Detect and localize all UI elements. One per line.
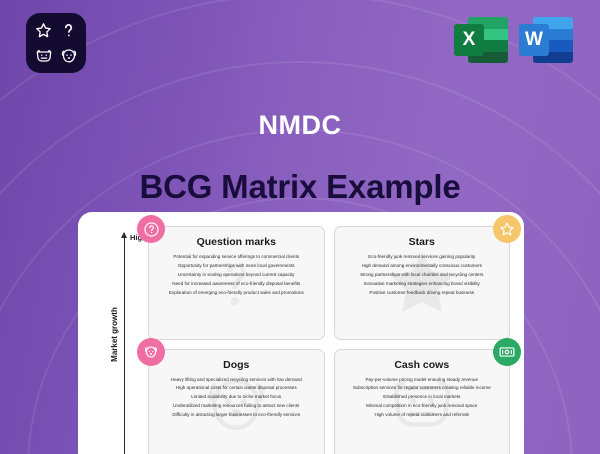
question-mark-icon — [57, 19, 80, 42]
axis-line — [124, 233, 125, 454]
list-item: Underutilized marketing resources failin… — [156, 402, 317, 411]
list-item: Eco-friendly junk removal services gaini… — [342, 253, 503, 262]
list-item: Limited scalability due to niche market … — [156, 393, 317, 402]
list-item: Subscription services for regular custom… — [342, 384, 503, 393]
list-item: Potential for expanding service offering… — [156, 253, 317, 262]
quadrant-question-marks[interactable]: Question marks Potential for expanding s… — [148, 226, 325, 340]
excel-icon[interactable]: X — [454, 13, 508, 67]
matrix-grid: Question marks Potential for expanding s… — [148, 226, 510, 454]
list-item: Pay-per-volume pricing model ensuring st… — [342, 376, 503, 385]
bcg-matrix-logo — [26, 13, 86, 73]
money-icon — [493, 338, 521, 366]
list-item: Uncertainty in scaling operations beyond… — [156, 271, 317, 280]
quadrant-items: Heavy lifting and specialized recycling … — [156, 376, 317, 421]
quadrant-items: Pay-per-volume pricing model ensuring st… — [342, 376, 503, 421]
quadrant-items: Eco-friendly junk removal services gaini… — [342, 253, 503, 298]
list-item: Need for increased awareness of eco-frie… — [156, 280, 317, 289]
cow-icon — [32, 44, 55, 67]
list-item: Positive customer feedback driving repea… — [342, 289, 503, 298]
list-item: Established presence in local markets — [342, 393, 503, 402]
question-mark-icon — [137, 215, 165, 243]
quadrant-title: Stars — [342, 236, 503, 248]
list-item: Innovative marketing strategies enhancin… — [342, 280, 503, 289]
quadrant-dogs[interactable]: Dogs Heavy lifting and specialized recyc… — [148, 349, 325, 454]
axis-title: Market growth — [110, 307, 119, 362]
dog-icon — [137, 338, 165, 366]
list-item: High volume of repeat customers and refe… — [342, 411, 503, 420]
list-item: High demand among environmentally consci… — [342, 262, 503, 271]
list-item: Strong partnerships with local charities… — [342, 271, 503, 280]
star-icon — [493, 215, 521, 243]
quadrant-title: Dogs — [156, 359, 317, 371]
dog-icon — [57, 44, 80, 67]
list-item: Heavy lifting and specialized recycling … — [156, 376, 317, 385]
quadrant-stars[interactable]: Stars Eco-friendly junk removal services… — [334, 226, 511, 340]
excel-letter: X — [454, 24, 484, 56]
matrix-card: High Market growth — [78, 212, 524, 454]
quadrant-items: Potential for expanding service offering… — [156, 253, 317, 298]
slide-canvas: X W NMDC BCG Matrix Example High Market … — [0, 0, 600, 454]
word-letter: W — [519, 24, 549, 56]
list-item: Exploration of emerging eco-friendly pro… — [156, 289, 317, 298]
quadrant-cash-cows[interactable]: Cash cows Pay-per-volume pricing model e… — [334, 349, 511, 454]
list-item: Difficulty in attracting larger business… — [156, 411, 317, 420]
quadrant-title: Cash cows — [342, 359, 503, 371]
list-item: Opportunity for partnerships with more l… — [156, 262, 317, 271]
star-icon — [32, 19, 55, 42]
list-item: High operational costs for certain waste… — [156, 384, 317, 393]
brand-name: NMDC — [0, 110, 600, 141]
list-item: Minimal competition in eco-friendly junk… — [342, 402, 503, 411]
page-title: BCG Matrix Example — [0, 168, 600, 206]
quadrant-title: Question marks — [156, 236, 317, 248]
word-icon[interactable]: W — [519, 13, 573, 67]
